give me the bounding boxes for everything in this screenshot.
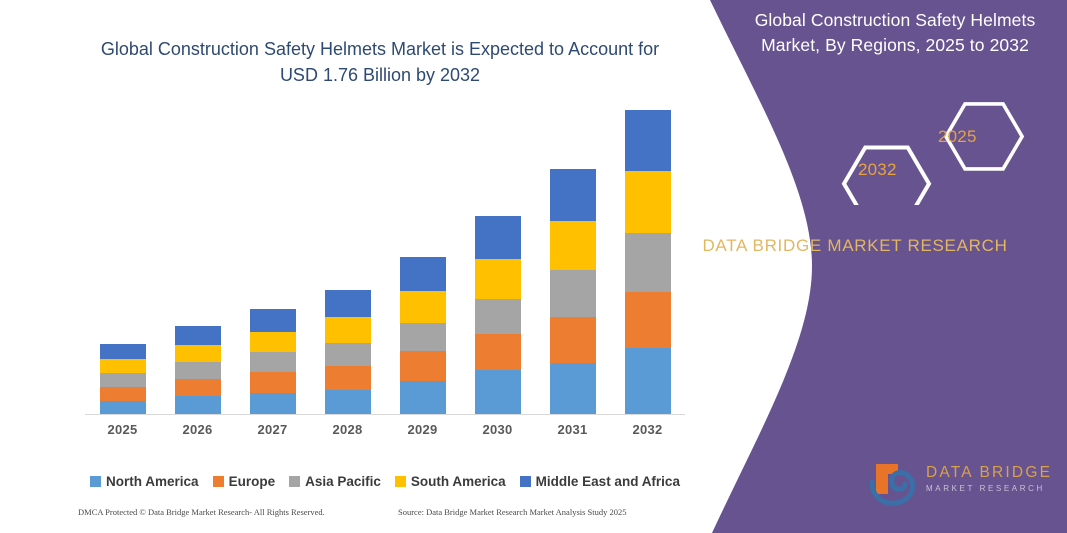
x-axis-tick-label: 2029 [388, 422, 458, 437]
x-axis-tick-label: 2030 [463, 422, 533, 437]
bar-segment[interactable] [475, 216, 521, 259]
legend-item[interactable]: South America [395, 474, 506, 489]
bar-segment[interactable] [100, 401, 146, 415]
bar-segment[interactable] [175, 345, 221, 363]
hexagon-badges: 2025 2032 [825, 95, 1035, 205]
bar-segment[interactable] [175, 362, 221, 378]
bar-segment[interactable] [325, 317, 371, 342]
bar-column[interactable] [550, 169, 596, 415]
logo-mark-icon [868, 460, 920, 506]
bar-column[interactable] [625, 110, 671, 415]
x-axis-labels: 20252026202720282029203020312032 [85, 422, 685, 444]
page-title: Global Construction Safety Helmets Marke… [80, 36, 680, 88]
bar-segment[interactable] [550, 221, 596, 270]
bar-segment[interactable] [100, 373, 146, 386]
bar-segment[interactable] [475, 370, 521, 415]
x-axis-tick-label: 2028 [313, 422, 383, 437]
x-axis-tick-label: 2027 [238, 422, 308, 437]
bar-segment[interactable] [625, 292, 671, 348]
bar-segment[interactable] [550, 169, 596, 221]
legend-label: Middle East and Africa [536, 474, 680, 489]
bar-segment[interactable] [475, 259, 521, 298]
bar-segment[interactable] [625, 110, 671, 171]
bar-segment[interactable] [250, 393, 296, 415]
bar-segment[interactable] [325, 366, 371, 390]
bar-segment[interactable] [250, 352, 296, 372]
bar-segment[interactable] [625, 233, 671, 292]
logo-wordmark-line1: DATA BRIDGE [926, 464, 1058, 482]
stacked-bar-chart [85, 110, 685, 415]
logo-wordmark: DATA BRIDGE MARKET RESEARCH [926, 464, 1058, 496]
bar-segment[interactable] [400, 351, 446, 381]
bar-segment[interactable] [250, 332, 296, 353]
bar-segment[interactable] [100, 387, 146, 401]
bar-segment[interactable] [325, 343, 371, 366]
data-bridge-logo: DATA BRIDGE MARKET RESEARCH [868, 458, 1058, 510]
bar-column[interactable] [325, 290, 371, 415]
bar-segment[interactable] [175, 396, 221, 415]
footer-source: Source: Data Bridge Market Research Mark… [398, 507, 627, 517]
bar-segment[interactable] [550, 363, 596, 415]
purple-panel-content: Global Construction Safety Helmets Marke… [640, 0, 1067, 533]
hex-2025-label: 2025 [938, 127, 977, 147]
legend-swatch [213, 476, 224, 487]
brand-name: DATA BRIDGE MARKET RESEARCH [695, 232, 1015, 260]
x-axis-tick-label: 2026 [163, 422, 233, 437]
bar-segment[interactable] [625, 171, 671, 232]
bar-segment[interactable] [325, 290, 371, 317]
legend-item[interactable]: Middle East and Africa [520, 474, 680, 489]
x-axis-tick-label: 2032 [613, 422, 683, 437]
legend-item[interactable]: North America [90, 474, 199, 489]
bar-segment[interactable] [250, 372, 296, 393]
bar-segment[interactable] [550, 317, 596, 363]
logo-wordmark-line2: MARKET RESEARCH [926, 482, 1058, 496]
x-axis-tick-label: 2031 [538, 422, 608, 437]
legend-swatch [395, 476, 406, 487]
legend-label: Asia Pacific [305, 474, 381, 489]
bar-segment[interactable] [400, 323, 446, 352]
hexagon-outlines [825, 95, 1035, 205]
bar-column[interactable] [100, 344, 146, 415]
legend-item[interactable]: Europe [213, 474, 276, 489]
bar-segment[interactable] [400, 257, 446, 291]
x-axis-tick-label: 2025 [88, 422, 158, 437]
legend-label: Europe [229, 474, 276, 489]
bar-segment[interactable] [475, 334, 521, 370]
bar-segment[interactable] [550, 270, 596, 317]
hex-2032-label: 2032 [858, 160, 897, 180]
bar-segment[interactable] [100, 359, 146, 373]
legend-item[interactable]: Asia Pacific [289, 474, 381, 489]
footer-copyright: DMCA Protected © Data Bridge Market Rese… [78, 507, 325, 517]
bar-column[interactable] [475, 216, 521, 415]
footer: DMCA Protected © Data Bridge Market Rese… [78, 507, 680, 523]
bar-segment[interactable] [475, 299, 521, 334]
chart-legend: North AmericaEuropeAsia PacificSouth Ame… [85, 470, 685, 492]
bar-column[interactable] [400, 257, 446, 415]
legend-label: North America [106, 474, 199, 489]
legend-label: South America [411, 474, 506, 489]
bar-column[interactable] [250, 309, 296, 415]
bar-segment[interactable] [625, 348, 671, 415]
bar-column[interactable] [175, 326, 221, 415]
bar-segment[interactable] [175, 379, 221, 397]
bar-segment[interactable] [400, 291, 446, 323]
x-axis-line [85, 414, 685, 415]
infographic-canvas: Global Construction Safety Helmets Marke… [0, 0, 1067, 533]
bar-segment[interactable] [400, 381, 446, 415]
bar-segment[interactable] [325, 390, 371, 415]
legend-swatch [520, 476, 531, 487]
panel-title: Global Construction Safety Helmets Marke… [735, 8, 1055, 58]
legend-swatch [90, 476, 101, 487]
legend-swatch [289, 476, 300, 487]
bar-segment[interactable] [250, 309, 296, 332]
bar-segment[interactable] [175, 326, 221, 345]
bar-segment[interactable] [100, 344, 146, 359]
